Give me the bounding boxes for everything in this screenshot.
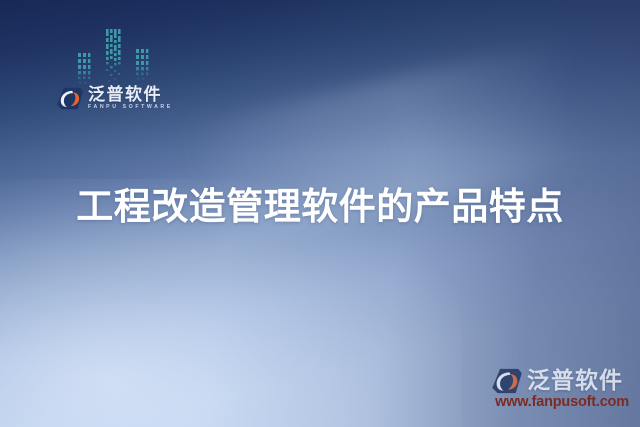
- watermark-url: www.fanpusoft.com: [492, 395, 632, 410]
- watermark-brand-name: 泛普软件: [527, 369, 623, 392]
- slide-canvas: 泛普软件 FANPU SOFTWARE 工程改造管理软件的产品特点 泛普软件 w…: [0, 0, 640, 427]
- watermark-brand-row: 泛普软件: [492, 368, 632, 394]
- brand-name-cn: 泛普软件: [88, 86, 173, 103]
- brand-lockup: 泛普软件 FANPU SOFTWARE: [57, 86, 173, 110]
- fanpu-hexagon-swoosh-logo-icon: [57, 87, 83, 110]
- watermark: 泛普软件 www.fanpusoft.com: [492, 368, 632, 410]
- city-skyline-icon: [70, 25, 162, 89]
- brand-name-en: FANPU SOFTWARE: [88, 105, 173, 110]
- page-title: 工程改造管理软件的产品特点: [0, 186, 640, 229]
- fanpu-hexagon-swoosh-logo-icon: [492, 368, 522, 394]
